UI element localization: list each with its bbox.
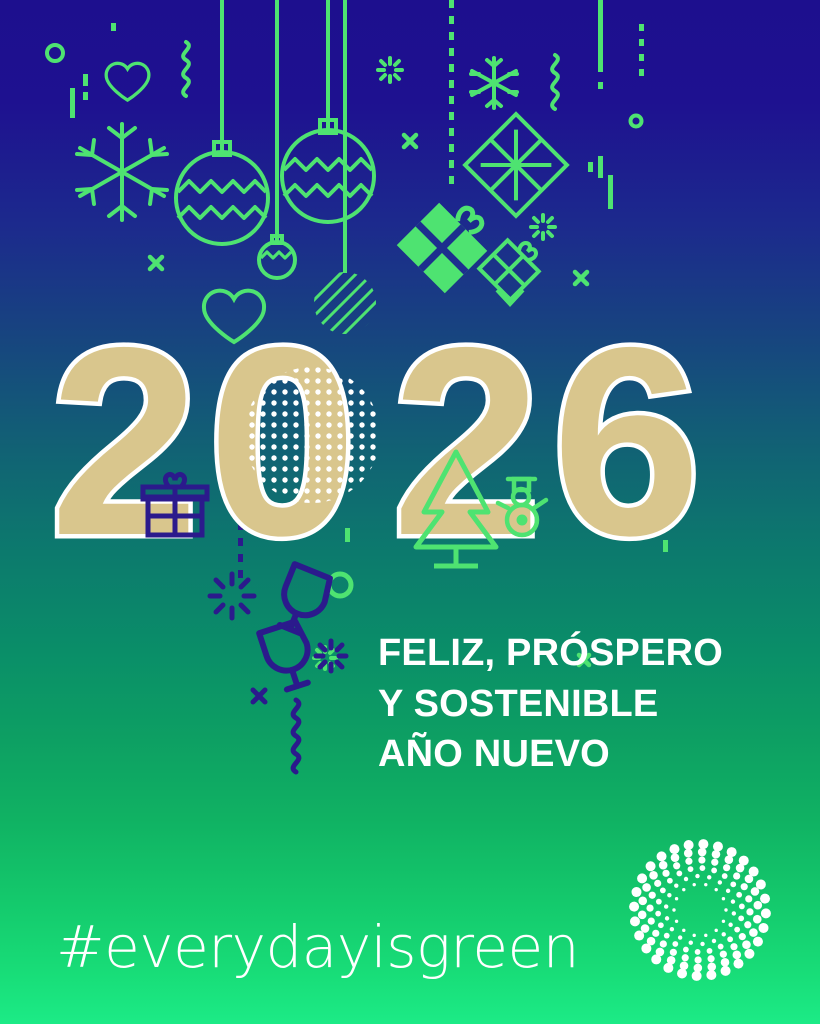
squiggle-line-icon (183, 42, 189, 96)
headline-block: FELIZ, PRÓSPERO Y SOSTENIBLE AÑO NUEVO (378, 628, 798, 780)
gift-box-outline-small-icon (479, 232, 547, 300)
squiggle-line-2-icon (552, 55, 558, 109)
headline-line-3: AÑO NUEVO (378, 729, 798, 780)
gift-box-filled-icon (397, 190, 500, 293)
squiggle-line-3-icon (293, 700, 299, 772)
heart-outline-top-icon (106, 63, 149, 100)
heart-outline-lower-icon (204, 291, 264, 342)
snowflake-large-icon (77, 124, 167, 220)
poster-canvas: 2 2 0 0 2 2 6 6 (0, 0, 820, 1024)
gift-box-diamond-outline-icon (465, 114, 567, 216)
headline-line-2: Y SOSTENIBLE (378, 679, 798, 730)
dotted-spiral-logo (620, 830, 780, 990)
ornament-strings (222, 0, 345, 273)
snowflake-small-icon (471, 58, 517, 108)
christmas-ball-large-right (282, 120, 374, 222)
christmas-ball-large-left (176, 142, 268, 244)
christmas-ball-small-center (259, 236, 295, 278)
hashtag-text: #everydayisgreen (56, 918, 579, 976)
headline-line-1: FELIZ, PRÓSPERO (378, 628, 798, 679)
cross-mark-purple-icon (253, 690, 265, 702)
